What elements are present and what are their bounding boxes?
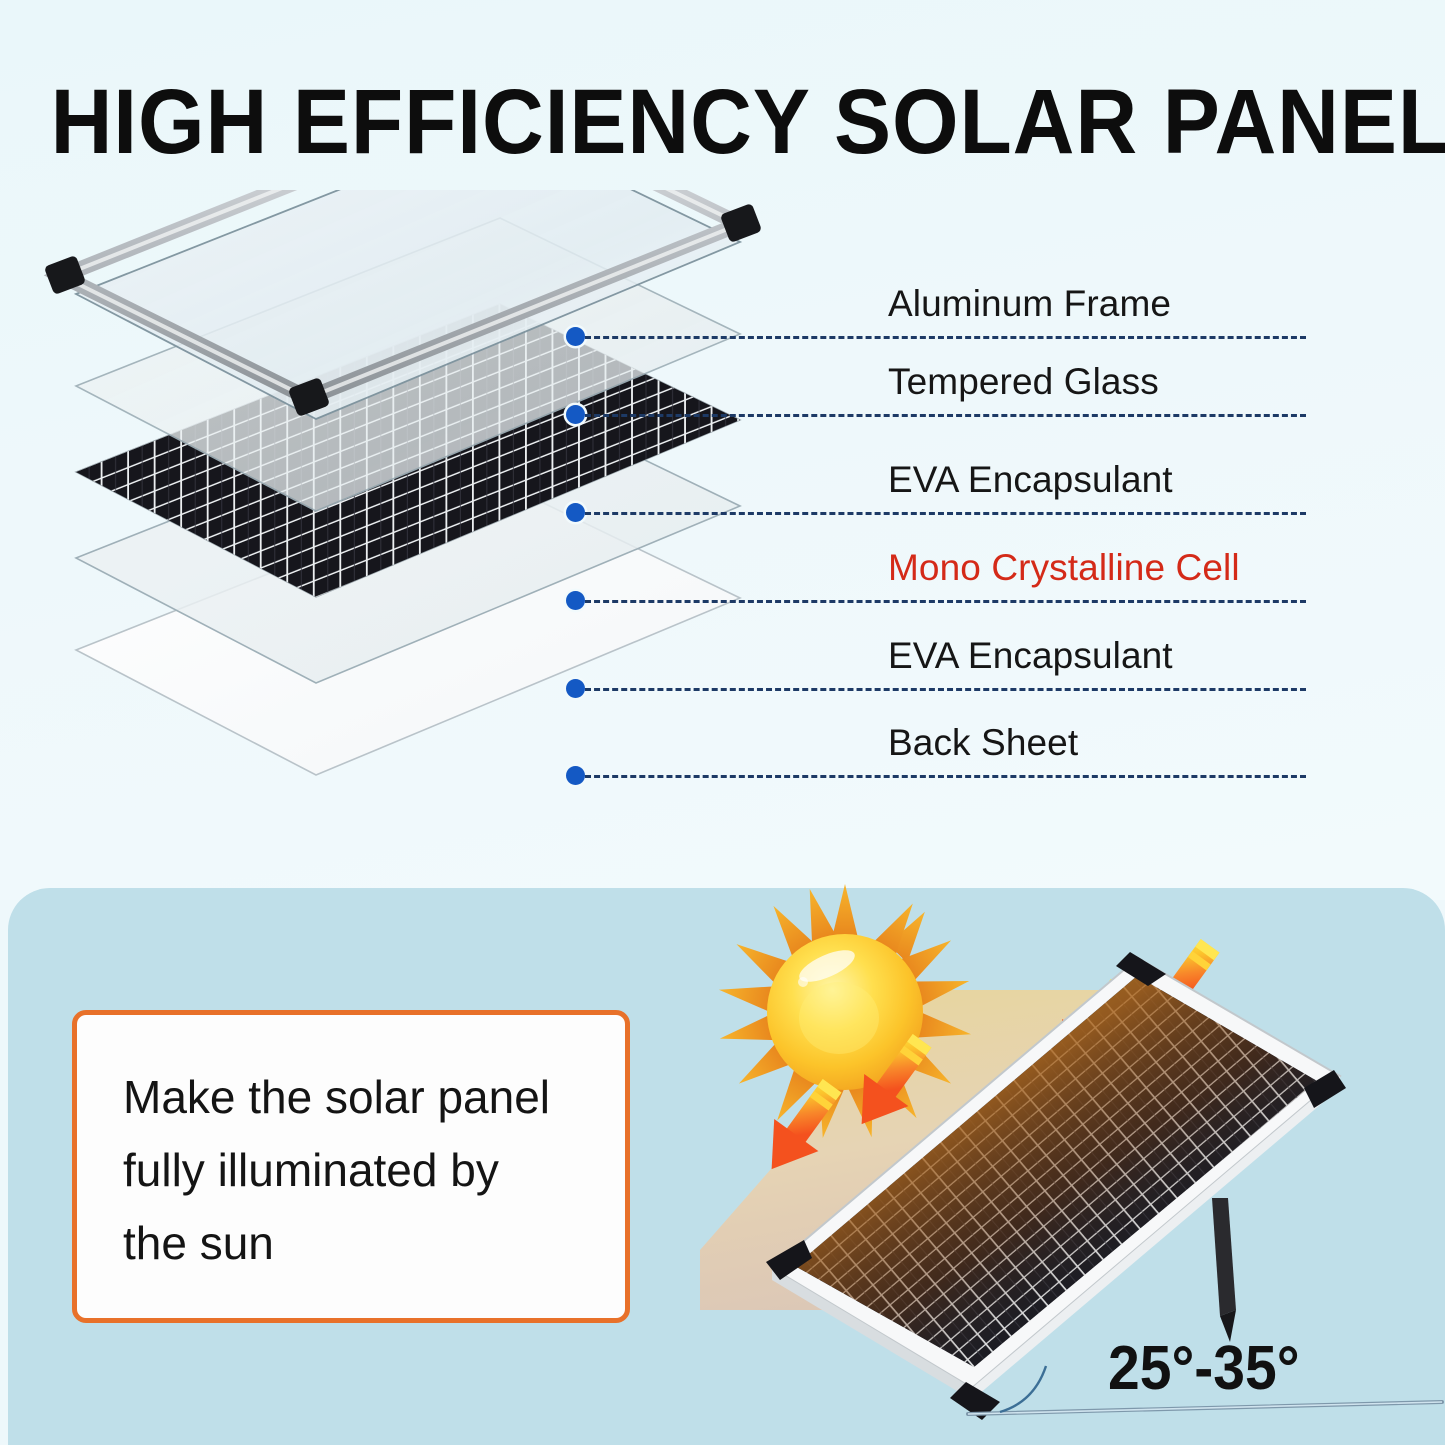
leader-eva-upper: EVA Encapsulant [566,512,1306,513]
leader-aluminum-frame: Aluminum Frame [566,336,1306,337]
label-eva-encapsulant-lower: EVA Encapsulant [888,635,1173,677]
label-tempered-glass: Tempered Glass [888,361,1159,403]
leader-eva-lower: EVA Encapsulant [566,688,1306,689]
leader-dash-line [585,336,1306,339]
leader-dot-icon [566,591,585,610]
leader-back-sheet: Back Sheet [566,775,1306,776]
infographic-root: HIGH EFFICIENCY SOLAR PANEL [0,0,1445,1445]
angle-arc [1000,1366,1046,1412]
label-back-sheet: Back Sheet [888,722,1078,764]
tip-callout-card: Make the solar panel fully illuminated b… [72,1010,630,1323]
panel-kickstand [1212,1198,1236,1342]
leader-dash-line [585,414,1306,417]
leader-dot-icon [566,405,585,424]
label-eva-encapsulant-upper: EVA Encapsulant [888,459,1173,501]
leader-dot-icon [566,679,585,698]
leader-dash-line [585,600,1306,603]
leader-dash-line [585,688,1306,691]
callout-line-1: Make the solar panel [123,1061,585,1134]
sun-panel-illustration [700,880,1445,1445]
label-aluminum-frame: Aluminum Frame [888,283,1171,325]
ground-line [968,1402,1442,1414]
layer-label-list: Aluminum Frame Tempered Glass EVA Encaps… [0,0,1445,900]
leader-mono-crystalline-cell: Mono Crystalline Cell [566,600,1306,601]
callout-line-2: fully illuminated by [123,1134,585,1207]
callout-line-3: the sun [123,1207,585,1280]
tilt-angle-label: 25°-35° [1108,1338,1300,1400]
leader-dash-line [585,775,1306,778]
leader-dash-line [585,512,1306,515]
leader-dot-icon [566,503,585,522]
leader-dot-icon [566,327,585,346]
leader-dot-icon [566,766,585,785]
label-mono-crystalline-cell: Mono Crystalline Cell [888,547,1240,589]
leader-tempered-glass: Tempered Glass [566,414,1306,415]
